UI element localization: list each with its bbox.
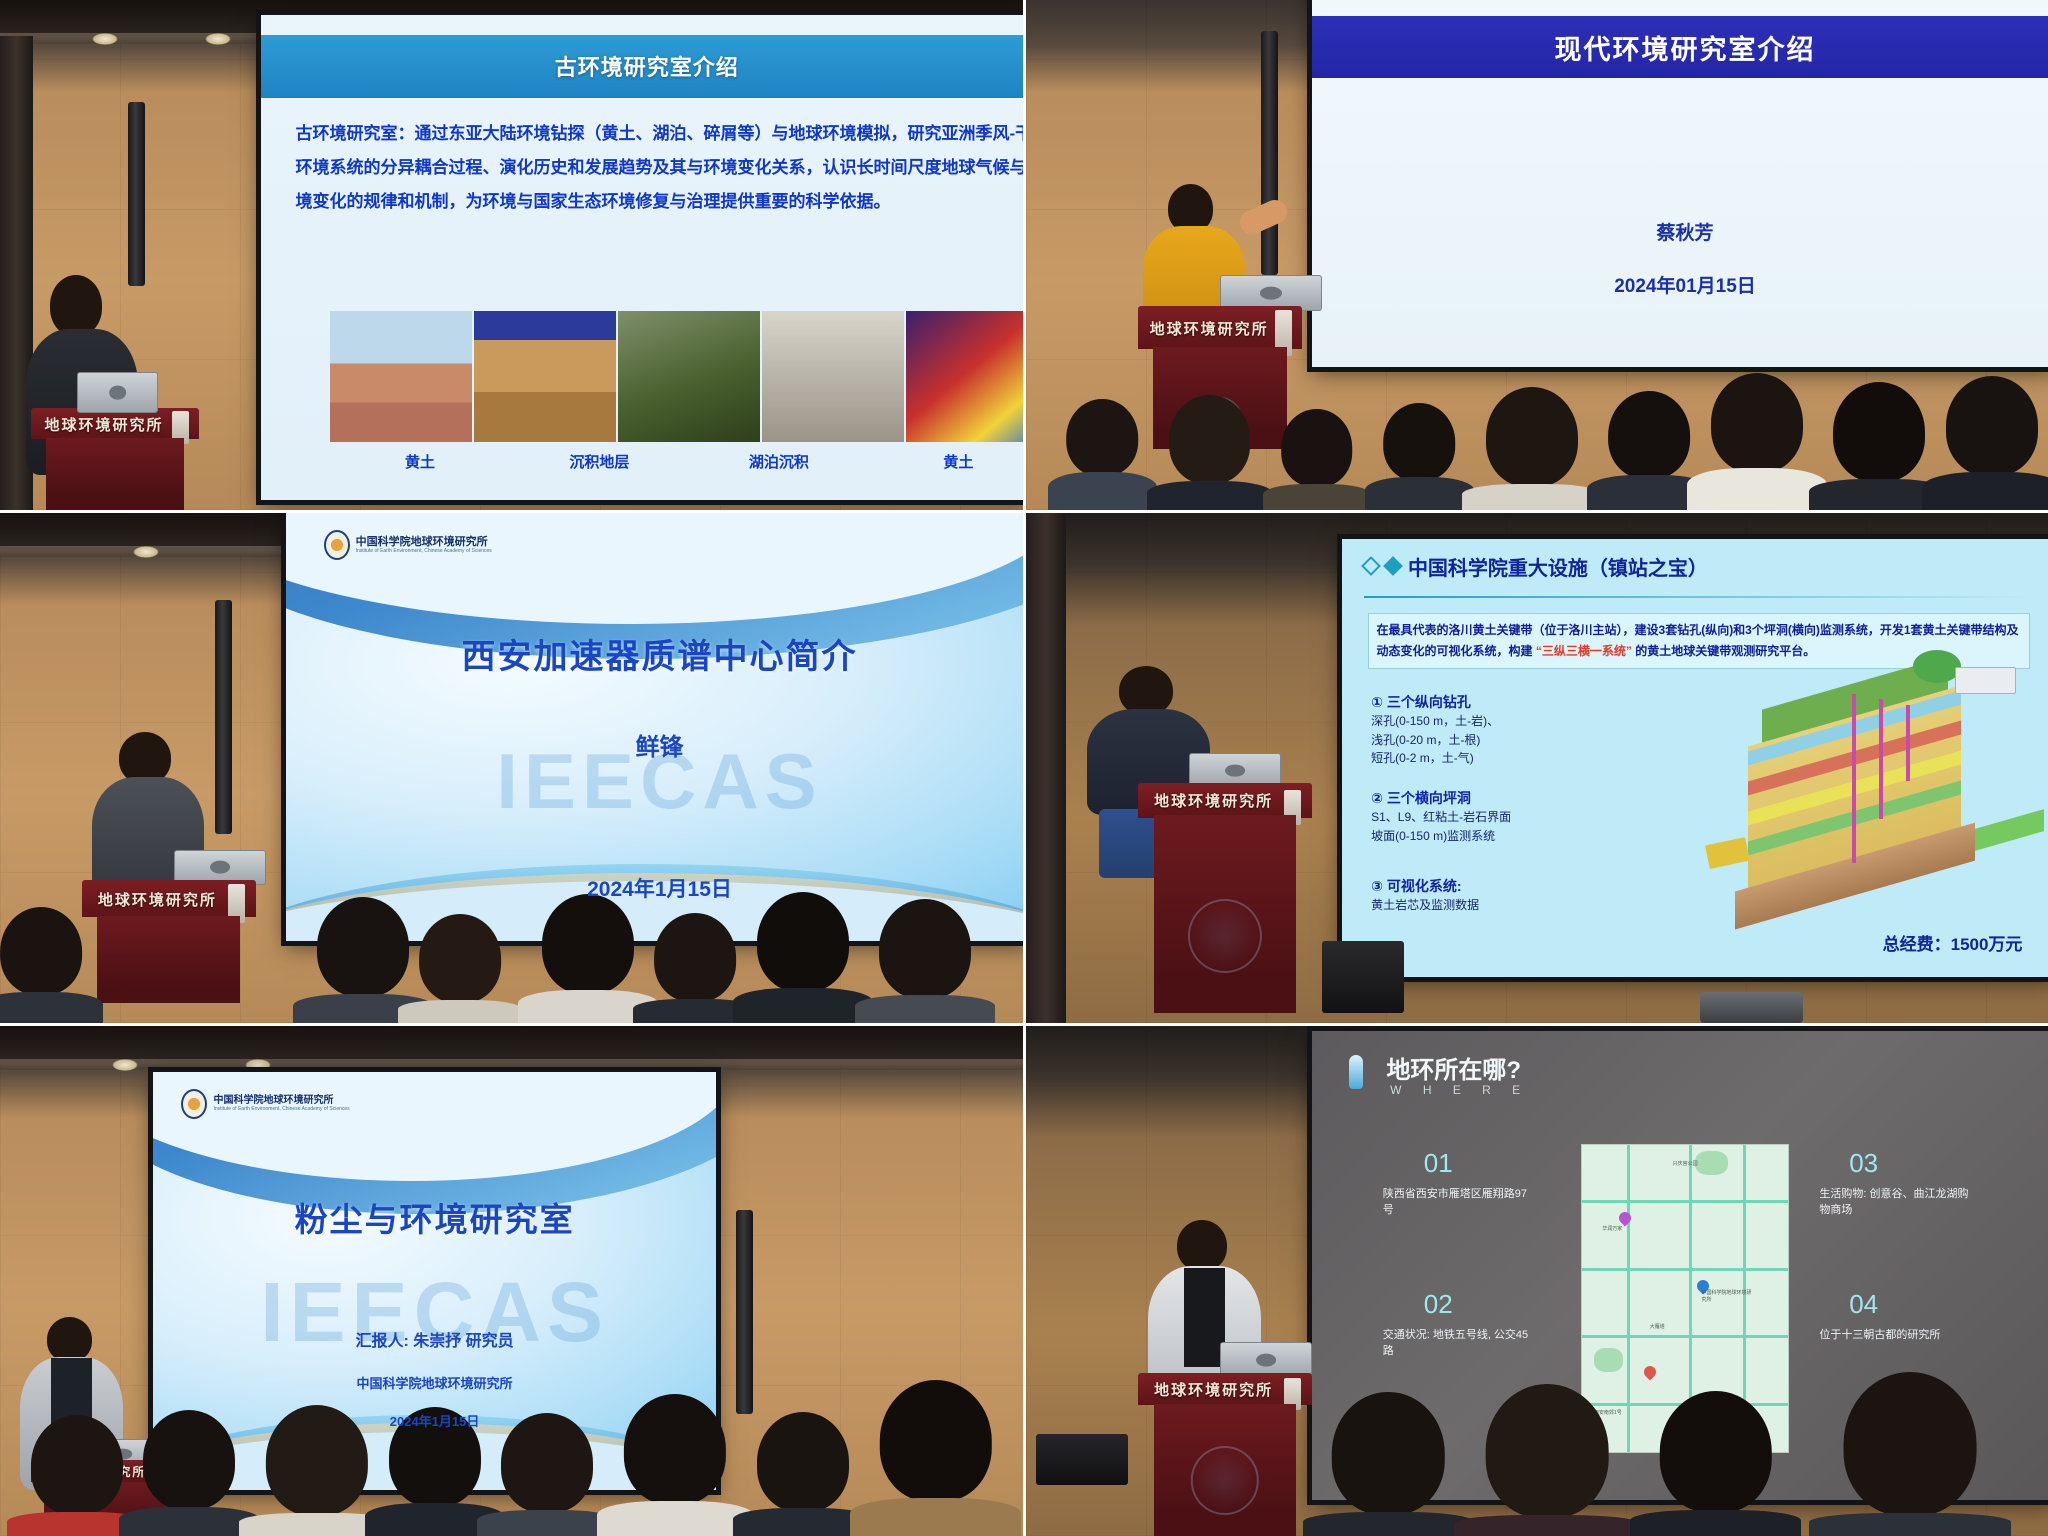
slide-affiliation: 中国科学院地球环境研究所 [176, 1373, 693, 1392]
collage-panel-1: 古环境研究室介绍 古环境研究室：通过东亚大陆环境钻探（黄土、湖泊、碎屑等）与地球… [0, 0, 1023, 510]
item-text: 交通状况: 地铁五号线, 公交45路 [1383, 1327, 1532, 1360]
audience-member [0, 931, 82, 1023]
slide-logo-cn: 中国科学院地球环境研究所 [213, 1095, 349, 1106]
slide-title: 西安加速器质谱中心简介 [316, 629, 1003, 678]
slide-item-1: ① 三个纵向钻孔 深孔(0-150 m，土-岩)、 浅孔(0-20 m，土-根)… [1371, 692, 1672, 768]
item-number: 01 [1424, 1148, 1453, 1179]
loess-critical-zone-diagram: 150 m [1700, 661, 2044, 933]
slide-header-text: 中国科学院重大设施（镇站之宝） [1408, 552, 1708, 581]
slide-title: 粉尘与环境研究室 [176, 1193, 693, 1241]
audience-member [1711, 388, 1803, 510]
caption-2: 沉积地层 [510, 451, 689, 472]
map-label: 中国科学院地球环境研究所 [1702, 1289, 1756, 1303]
slide-presenter: 汇报人: 朱崇抒 研究员 [176, 1327, 693, 1351]
audience-member [542, 926, 634, 1023]
projection-screen: 中国科学院重大设施（镇站之宝） 在最具代表的洛川黄土关键带（位于洛川主站），建设… [1342, 539, 2048, 978]
presenter-head [1177, 1220, 1226, 1271]
collage-panel-5: IEECAS 中国科学院地球环境研究所 Institute of Earth E… [0, 1026, 1023, 1536]
podium-sign: 地球环境研究所 [1143, 315, 1276, 344]
map-label: 华润万家 [1602, 1225, 1622, 1232]
slide-item-3: ③ 可视化系统: 黄土岩芯及监测数据 [1371, 876, 1672, 915]
projection-screen: IEECAS 中国科学院地球环境研究所 Institute of Earth E… [153, 1072, 715, 1490]
audience-member [1169, 423, 1251, 510]
collage-panel-6: 地环所在哪? W H E R E 01 陕西省西安市雁塔区雁翔路97号 02 交… [1026, 1026, 2048, 1536]
presenter-inner-shirt [1184, 1268, 1224, 1367]
slide-photo-strip [330, 311, 1022, 442]
equipment-cart [1700, 992, 1802, 1023]
slide-header-text: 古环境研究室介绍 [555, 50, 739, 82]
caption-3: 湖泊沉积 [689, 451, 868, 472]
podium: 地球环境研究所 [1138, 783, 1312, 1013]
slide-presenter: 鲜锋 [316, 727, 1003, 762]
audience-member [879, 941, 971, 1023]
podium-emblem [1191, 1446, 1259, 1514]
slide-intro-tail: 的黄土地球关键带观测研究平台。 [1635, 644, 1815, 658]
audience-member [317, 936, 409, 1023]
slide-date: 2024年01月15日 [1312, 271, 2048, 298]
podium-body [1154, 1404, 1297, 1536]
audience-member [1486, 1475, 1609, 1536]
slide-rule [1364, 596, 2030, 598]
diagram-borehole [1852, 694, 1856, 863]
presenter-laptop [77, 372, 159, 413]
slide-date: 2024年1月15日 [176, 1411, 693, 1430]
item-text: 位于十三朝古都的研究所 [1819, 1327, 1968, 1344]
audience-member [1844, 1470, 1977, 1536]
presenter-head [1168, 184, 1213, 233]
map-label: 大雁塔 [1650, 1323, 1665, 1330]
diamond-outline-icon [1361, 556, 1381, 576]
cas-seal-icon [181, 1089, 207, 1119]
slide-subtitle: W H E R E [1390, 1083, 1529, 1097]
audience-member [624, 1434, 726, 1536]
item-line: 浅孔(0-20 m，土-根) [1371, 731, 1672, 750]
projection-screen: IEECAS 中国科学院地球环境研究所 Institute of Earth E… [286, 513, 1022, 941]
audience-member [757, 1454, 849, 1536]
podium: 地球环境研究所 [1138, 1373, 1312, 1536]
cas-seal-icon [324, 530, 350, 560]
presenter-head [1119, 666, 1173, 715]
audience-member [1332, 1465, 1444, 1536]
audience-member [1946, 398, 2038, 510]
slide-cost-label: 总经费：1500万元 [1883, 930, 2023, 955]
item-num: ① [1371, 694, 1383, 710]
caption-4: 黄土 [869, 451, 1023, 472]
ceiling-spotlight [205, 33, 231, 45]
slide-date: 2024年1月15日 [316, 873, 1003, 903]
podium-sign: 地球环境研究所 [87, 888, 228, 912]
audience-member [1281, 434, 1353, 511]
audience-member [419, 957, 501, 1023]
map-label: 兴庆宫公园 [1673, 1160, 1698, 1167]
podium-sign: 地球环境研究所 [36, 414, 173, 434]
slide-intro-highlight: “三纵三横一系统” [1536, 644, 1632, 658]
presenter-head [50, 275, 102, 336]
audience-member [1066, 398, 1138, 510]
item-title: 三个纵向钻孔 [1387, 694, 1471, 710]
item-text: 陕西省西安市雁塔区雁翔路97号 [1383, 1186, 1532, 1219]
podium-body [97, 916, 240, 1003]
audience-member [1659, 1460, 1771, 1536]
podium-body [46, 438, 184, 510]
slide-title-text: 现代环境研究室介绍 [1555, 28, 1816, 67]
collage-panel-2: 中国科学院 地球环境研究所（IEECAS） 现代环境研究室介绍 蔡秋芳 2024… [1026, 0, 2048, 510]
item-num: ③ [1371, 878, 1383, 894]
audience-member [389, 1439, 481, 1536]
slide-photo-captions: 黄土 沉积地层 湖泊沉积 黄土 [330, 451, 1022, 472]
slide-logo-en: Institute of Earth Environment, Chinese … [213, 1106, 349, 1112]
item-line: 深孔(0-150 m，土-岩)、 [1371, 712, 1672, 731]
audience-member [1486, 434, 1578, 511]
podium-emblem [1188, 899, 1262, 973]
item-number: 03 [1849, 1148, 1878, 1179]
speaker-tower [215, 600, 232, 835]
item-num: ② [1371, 790, 1383, 806]
podium-sign: 地球环境研究所 [1143, 788, 1284, 813]
wall-pillar [1026, 513, 1067, 1023]
photo-heatmap [906, 311, 1022, 442]
podium-body [1154, 815, 1297, 1012]
audience-member [143, 1449, 235, 1536]
item-number: 02 [1424, 1289, 1453, 1320]
floor-speaker [1322, 941, 1404, 1012]
audience-member [1608, 408, 1690, 510]
floor-speaker [1036, 1434, 1128, 1485]
audience-member [501, 1460, 593, 1536]
podium: 地球环境研究所 [31, 408, 200, 510]
photo-collage: 古环境研究室介绍 古环境研究室：通过东亚大陆环境钻探（黄土、湖泊、碎屑等）与地球… [0, 0, 2048, 1536]
slide-body-text: 古环境研究室：通过东亚大陆环境钻探（黄土、湖泊、碎屑等）与地球环境模拟，研究亚洲… [295, 117, 1022, 219]
projection-screen: 古环境研究室介绍 古环境研究室：通过东亚大陆环境钻探（黄土、湖泊、碎屑等）与地球… [261, 15, 1023, 500]
audience-member [654, 952, 736, 1023]
collage-panel-4: 中国科学院重大设施（镇站之宝） 在最具代表的洛川黄土关键带（位于洛川主站），建设… [1026, 513, 2048, 1023]
item-line: 黄土岩芯及监测数据 [1371, 896, 1672, 915]
caption-1: 黄土 [330, 451, 509, 472]
diagram-tunnel [1975, 809, 2044, 850]
audience-member [879, 1424, 991, 1536]
slide-item-2: ② 三个横向坪洞 S1、L9、红粘土-岩石界面 坡面(0-150 m)监测系统 [1371, 788, 1672, 845]
speaker-tower [128, 102, 145, 286]
diamond-icon [1383, 556, 1403, 576]
slide-logo: 中国科学院地球环境研究所 Institute of Earth Environm… [181, 1089, 349, 1119]
photo-core-sample [762, 311, 904, 442]
ceiling [0, 1026, 1023, 1062]
photo-lake-drilling [618, 311, 760, 442]
slide-logo-en: Institute of Earth Environment, Chinese … [356, 548, 492, 554]
collage-panel-3: IEECAS 中国科学院地球环境研究所 Institute of Earth E… [0, 513, 1023, 1023]
projection-screen: 中国科学院 地球环境研究所（IEECAS） 现代环境研究室介绍 蔡秋芳 2024… [1312, 0, 2048, 367]
item-line: 坡面(0-150 m)监测系统 [1371, 827, 1672, 846]
podium: 地球环境研究所 [82, 880, 256, 1002]
slide-title-band: 现代环境研究室介绍 [1312, 16, 2048, 77]
ceiling-strip [0, 1059, 1023, 1070]
audience-member [266, 1470, 368, 1536]
slide-logo: 中国科学院地球环境研究所 Institute of Earth Environm… [324, 530, 492, 560]
photo-strata [474, 311, 616, 442]
diagram-borehole [1906, 705, 1910, 781]
slide-title: 地环所在哪? [1386, 1050, 1521, 1085]
podium-sign: 地球环境研究所 [1143, 1378, 1284, 1401]
slide-logo-cn: 中国科学院地球环境研究所 [356, 536, 492, 548]
slide-header: 中国科学院重大设施（镇站之宝） [1364, 552, 1708, 581]
item-title: 三个横向坪洞 [1387, 790, 1471, 806]
audience-member [31, 1465, 123, 1536]
item-title: 可视化系统: [1387, 878, 1462, 894]
item-line: S1、L9、红粘土-岩石界面 [1371, 808, 1672, 827]
item-text: 生活购物: 创意谷、曲江龙湖购物商场 [1819, 1186, 1968, 1219]
audience-member [757, 921, 849, 1023]
audience-member [1383, 413, 1455, 510]
slide-presenter: 蔡秋芳 [1312, 218, 2048, 245]
speaker-tower [736, 1210, 753, 1414]
slide-header-bar: 古环境研究室介绍 [261, 35, 1023, 98]
item-number: 04 [1849, 1289, 1878, 1320]
diagram-dish-icon [1705, 837, 1750, 870]
photo-loess [330, 311, 472, 442]
audience-member [1833, 418, 1925, 510]
diagram-borehole [1879, 699, 1883, 819]
speaker-tower [1261, 31, 1278, 276]
lightbulb-icon [1349, 1055, 1363, 1089]
presenter-head [47, 1317, 92, 1362]
diagram-monitoring-center [1955, 667, 2017, 694]
item-line: 短孔(0-2 m，土-气) [1371, 749, 1672, 768]
